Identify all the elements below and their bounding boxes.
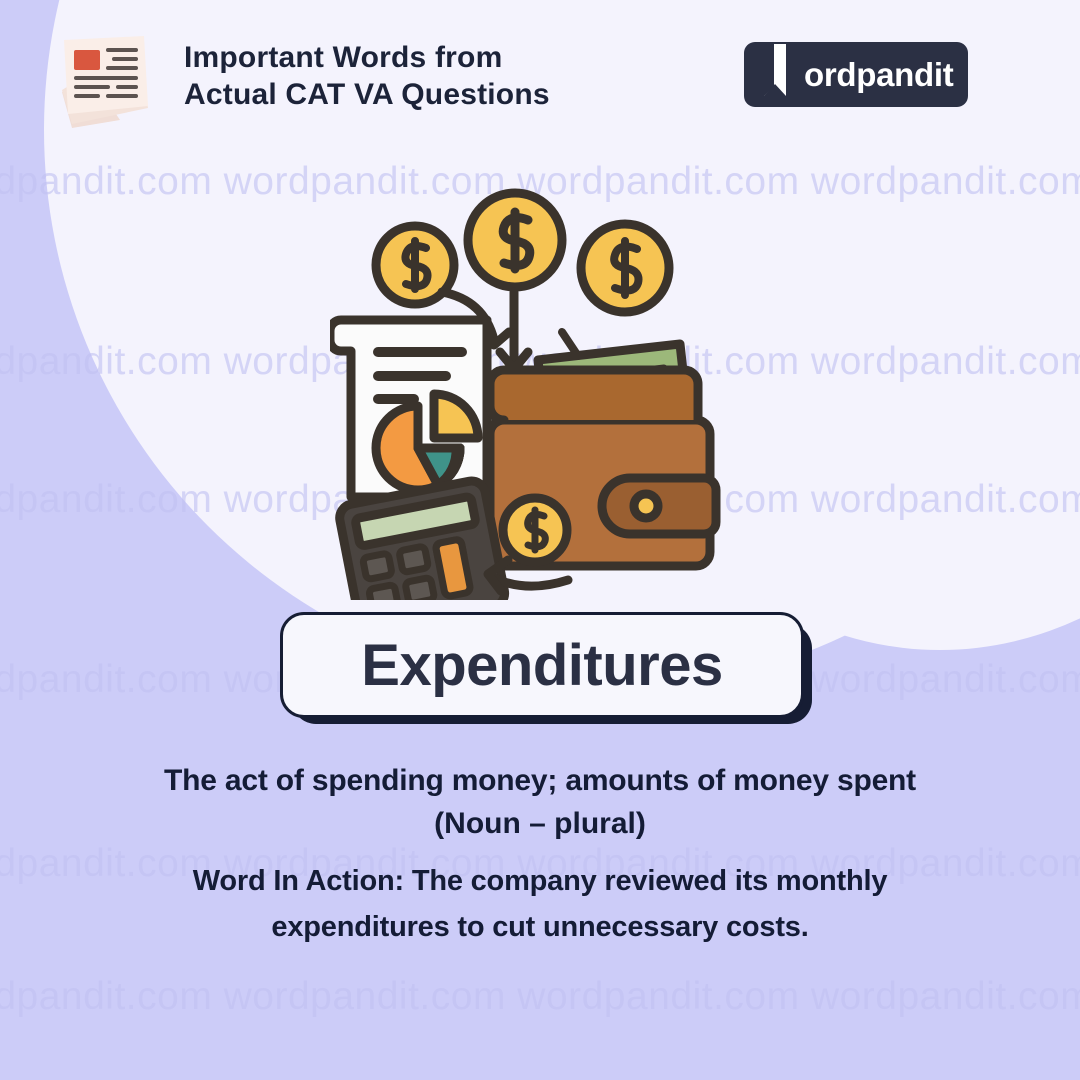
word-card-wrapper: Expenditures — [280, 612, 800, 720]
coin-center-icon — [468, 193, 562, 287]
page-title-line2: Actual CAT VA Questions — [184, 77, 550, 114]
page-title: Important Words from Actual CAT VA Quest… — [184, 40, 550, 113]
part-of-speech: (Noun – plural) — [40, 803, 1040, 846]
definition-block: The act of spending money; amounts of mo… — [40, 760, 1040, 951]
wordpandit-logo[interactable]: ordpandit — [744, 42, 968, 107]
word-in-action: Word In Action: The company reviewed its… — [40, 859, 1040, 951]
logo-text: ordpandit — [804, 56, 953, 94]
word-title: Expenditures — [361, 632, 722, 699]
coin-on-wallet-icon — [503, 498, 567, 562]
newspaper-icon — [48, 28, 166, 133]
definition-meaning: The act of spending money; amounts of mo… — [40, 760, 1040, 803]
header: Important Words from Actual CAT VA Quest… — [0, 0, 1080, 150]
word-card[interactable]: Expenditures — [280, 612, 804, 718]
poster-canvas: wordpandit.com wordpandit.com wordpandit… — [0, 0, 1080, 1080]
page-title-line1: Important Words from — [184, 41, 502, 74]
expenditures-illustration — [330, 180, 750, 600]
report-document-icon — [330, 320, 487, 497]
coin-right-icon — [581, 224, 669, 312]
